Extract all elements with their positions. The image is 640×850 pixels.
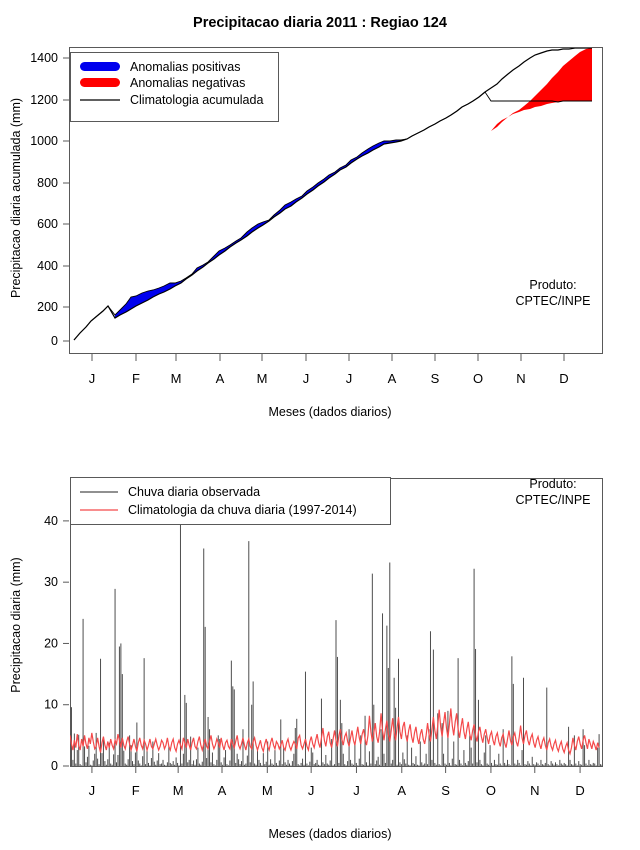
top-xtick-sep: S <box>431 371 440 386</box>
bottom-x-axis-label: Meses (dados diarios) <box>269 827 392 841</box>
top-xtick-may: M <box>257 371 268 386</box>
top-xtick-oct: O <box>473 371 483 386</box>
bottom-legend[interactable]: Chuva diaria observadaClimatologia da ch… <box>71 478 391 525</box>
bottom-ytick-40: 40 <box>44 514 58 528</box>
bottom-ytick-30: 30 <box>44 575 58 589</box>
top-xtick-dec: D <box>559 371 568 386</box>
page-title: Precipitacao diaria 2011 : Regiao 124 <box>193 15 447 31</box>
legend-label-daily-climatology: Climatologia da chuva diaria (1997-2014) <box>128 503 357 517</box>
top-xtick-feb: F <box>132 371 140 386</box>
daily-precipitation-chart: Precipitacao diaria (mm)Meses (dados dia… <box>0 430 640 850</box>
accumulated-chart-svg: Precipitacao diaria 2011 : Regiao 124 Pr… <box>0 0 640 430</box>
top-produto-line1: Produto: <box>529 278 576 292</box>
top-ytick-400: 400 <box>37 259 58 273</box>
bottom-x-axis: JFMAMJJASOND <box>89 766 585 798</box>
top-xtick-jun: J <box>303 371 310 386</box>
bottom-y-axis-label: Precipitacao diaria (mm) <box>9 557 23 692</box>
daily-chart-svg: Precipitacao diaria (mm)Meses (dados dia… <box>0 430 640 850</box>
top-ytick-0: 0 <box>51 334 58 348</box>
bottom-xtick-dec: D <box>575 783 584 798</box>
top-ytick-1200: 1200 <box>30 93 58 107</box>
observed-accumulated-line <box>74 92 592 340</box>
legend-swatch-negative <box>80 78 120 87</box>
top-x-axis: J F M A M J J A S O N D <box>89 354 569 386</box>
legend-swatch-positive <box>80 62 120 71</box>
top-xtick-apr: A <box>216 371 225 386</box>
bottom-xtick-feb: F <box>132 783 140 798</box>
bottom-produto-annotation: Produto:CPTEC/INPE <box>515 477 590 507</box>
top-x-axis-label: Meses (dados diarios) <box>269 405 392 419</box>
top-xtick-aug: A <box>388 371 397 386</box>
daily-climatology-line <box>70 708 599 753</box>
bottom-xtick-jan: J <box>89 783 96 798</box>
bottom-xtick-nov: N <box>530 783 539 798</box>
bottom-xtick-aug: A <box>397 783 406 798</box>
top-produto-line2: CPTEC/INPE <box>515 294 590 308</box>
bottom-produto-line1: Produto: <box>529 477 576 491</box>
bottom-xtick-oct: O <box>486 783 496 798</box>
bottom-produto-line2: CPTEC/INPE <box>515 493 590 507</box>
bottom-ytick-10: 10 <box>44 698 58 712</box>
top-ytick-800: 800 <box>37 176 58 190</box>
bottom-xtick-apr: A <box>218 783 227 798</box>
bottom-y-axis: 010203040 <box>44 514 69 773</box>
legend-label-climatology: Climatologia acumulada <box>130 93 263 107</box>
bottom-xtick-sep: S <box>441 783 450 798</box>
top-ytick-200: 200 <box>37 300 58 314</box>
observed-bars <box>70 503 602 766</box>
top-y-axis: 1400 1200 1000 800 600 400 200 0 <box>30 51 69 348</box>
top-xtick-jul: J <box>346 371 353 386</box>
bottom-xtick-jul: J <box>353 783 360 798</box>
top-ytick-1400: 1400 <box>30 51 58 65</box>
top-xtick-jan: J <box>89 371 96 386</box>
bottom-ytick-20: 20 <box>44 636 58 650</box>
top-y-axis-label: Precipitacao diaria acumulada (mm) <box>9 98 23 298</box>
top-xtick-mar: M <box>171 371 182 386</box>
top-ytick-1000: 1000 <box>30 134 58 148</box>
bottom-ytick-0: 0 <box>51 759 58 773</box>
bottom-xtick-may: M <box>262 783 273 798</box>
legend-label-positive: Anomalias positivas <box>130 60 240 74</box>
legend-label-negative: Anomalias negativas <box>130 76 245 90</box>
negative-anomaly-area <box>491 48 592 131</box>
positive-anomaly-area <box>115 140 401 318</box>
legend-label-observed: Chuva diaria observada <box>128 485 260 499</box>
top-produto-annotation: Produto: CPTEC/INPE <box>515 278 590 308</box>
bottom-plot-area <box>70 503 602 766</box>
bottom-xtick-jun: J <box>308 783 315 798</box>
accumulated-precipitation-chart: Precipitacao diaria 2011 : Regiao 124 Pr… <box>0 0 640 430</box>
top-ytick-600: 600 <box>37 217 58 231</box>
bottom-xtick-mar: M <box>173 783 184 798</box>
top-legend[interactable]: Anomalias positivas Anomalias negativas … <box>71 53 279 122</box>
top-xtick-nov: N <box>516 371 525 386</box>
